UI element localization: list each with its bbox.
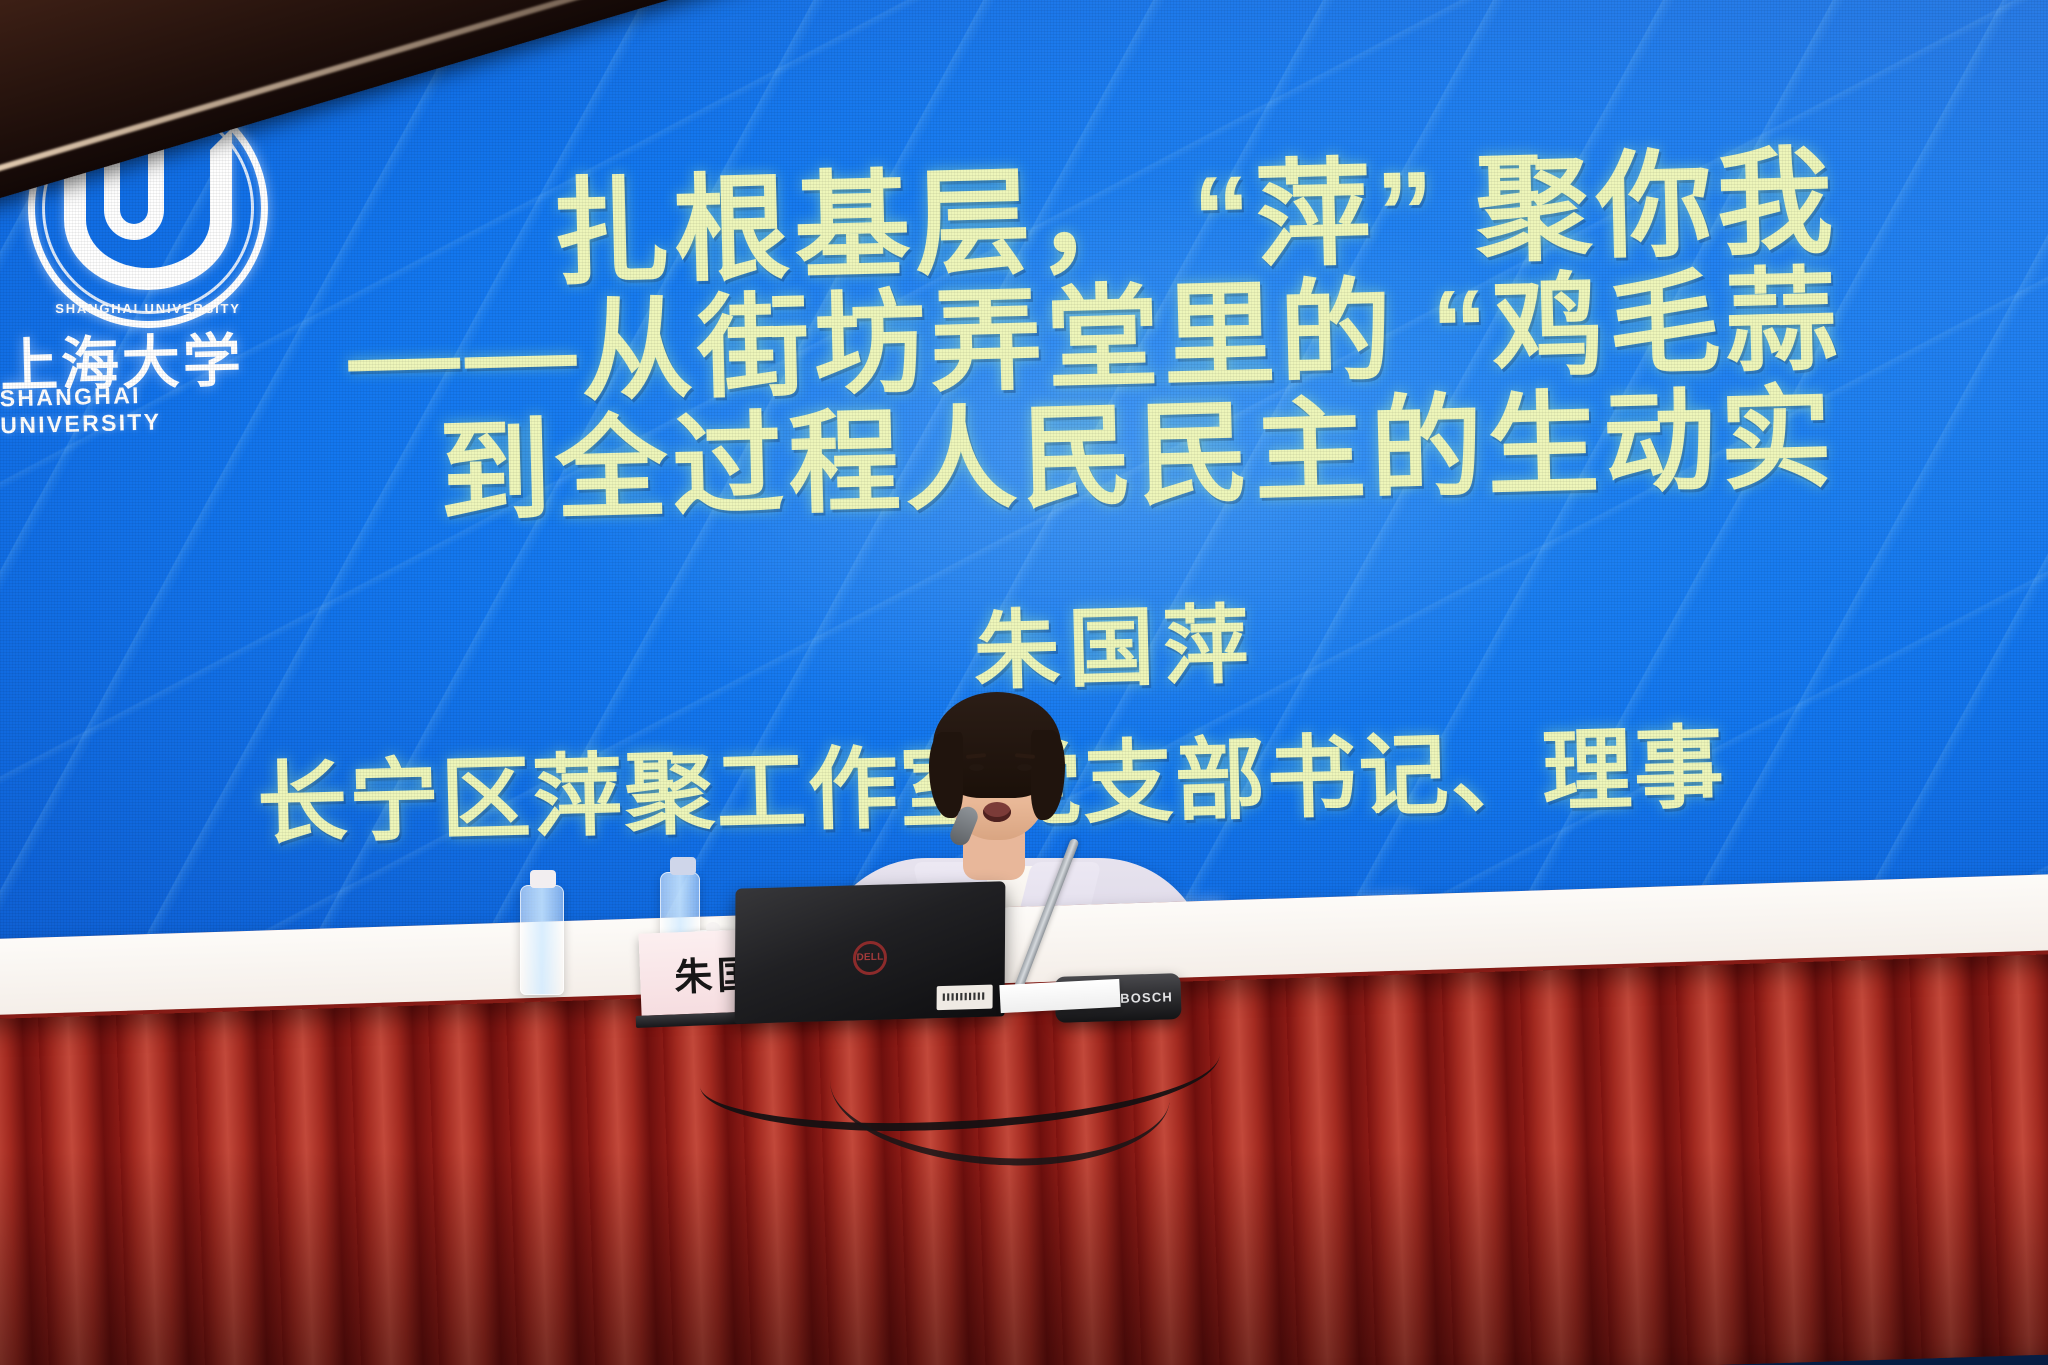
speaker-eye-right [1017, 764, 1032, 771]
dell-logo-icon: DELL [853, 940, 887, 975]
bottle-cap [530, 870, 556, 888]
bosch-brand-label: BOSCH [1120, 989, 1173, 1006]
speaker-mouth [983, 802, 1011, 822]
speaker-hair-right [1031, 730, 1065, 820]
speaker-hair-left [929, 732, 963, 818]
bottle-cap [670, 857, 696, 875]
water-bottle [520, 885, 564, 995]
speaker-eye-left [969, 764, 984, 771]
laptop-barcode-sticker: ▌▌▌▌▌▌▌▌▌▌ [937, 985, 993, 1011]
lecture-hall-photo: 上 海 大 学 SHANGHAI UNIVERSITY 上海大学 SHANGHA… [0, 0, 2048, 1365]
laptop: DELL ▌▌▌▌▌▌▌▌▌▌ [735, 881, 1006, 1024]
slide-title-line-3: 到全过程人民民主的生动实 [437, 347, 1838, 544]
